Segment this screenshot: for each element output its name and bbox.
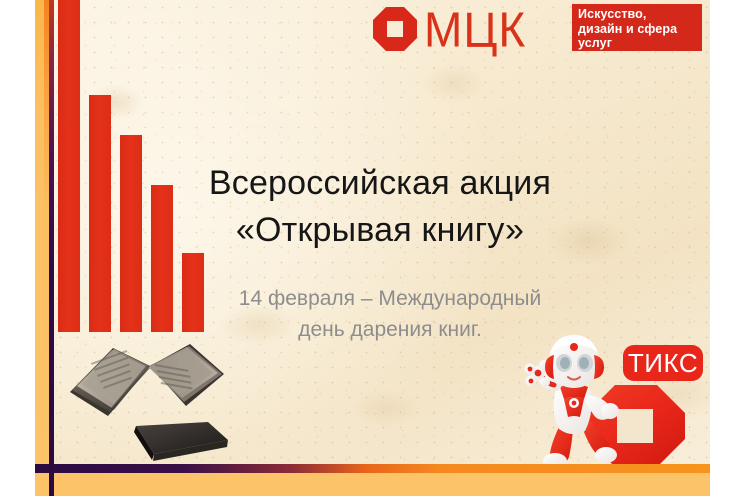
title-line-1: Всероссийская акция	[120, 160, 640, 207]
title-line-2: «Открывая книгу»	[120, 207, 640, 254]
tagline-line-1: Искусство,	[578, 7, 697, 22]
chart-bar	[89, 95, 111, 332]
tiks-badge: ТИКС	[623, 345, 703, 381]
mck-wordmark: МЦК	[424, 1, 526, 58]
open-book-illustration	[58, 330, 233, 470]
tagline-line-2: дизайн и сфера	[578, 22, 697, 37]
octagon-icon	[372, 6, 418, 52]
tiks-badge-label: ТИКС	[623, 345, 703, 381]
page-title: Всероссийская акция «Открывая книгу»	[120, 160, 640, 254]
footer-background	[35, 473, 710, 496]
tagline-line-3: услуг	[578, 36, 697, 51]
left-stripe-orange-outer	[35, 0, 44, 464]
subtitle-line-1: 14 февраля – Международный	[155, 283, 625, 314]
slide-canvas: МЦК Искусство, дизайн и сфера услуг Всер…	[0, 0, 744, 496]
mck-logo: МЦК Искусство, дизайн и сфера услуг	[368, 2, 704, 56]
mck-tagline: Искусство, дизайн и сфера услуг	[572, 4, 702, 51]
footer-gradient-band	[35, 464, 710, 473]
chart-bar	[58, 0, 80, 332]
footer-purple-tick	[49, 464, 54, 496]
robot-mascot-illustration	[524, 333, 634, 473]
